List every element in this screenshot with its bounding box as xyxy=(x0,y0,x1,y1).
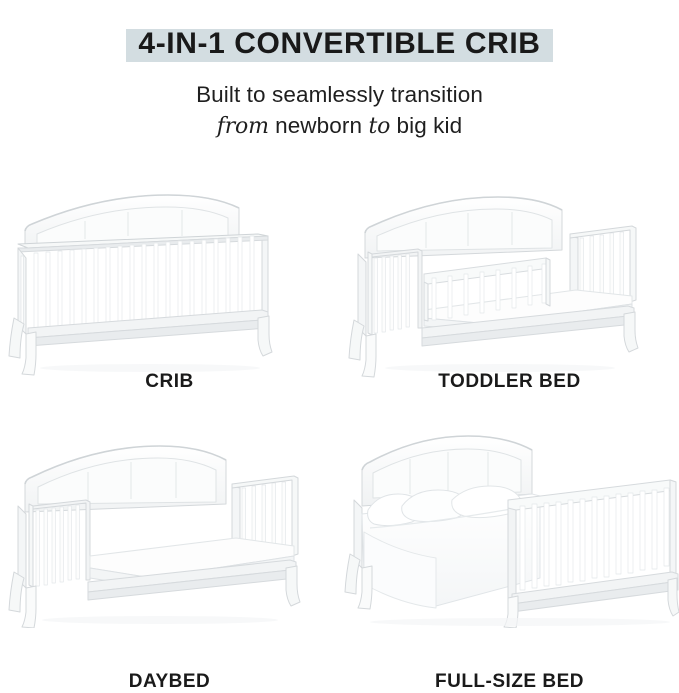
subtitle-script-from: from xyxy=(217,114,269,139)
header: 4-IN-1 CONVERTIBLE CRIB Built to seamles… xyxy=(0,0,679,141)
configuration-cell-full-size-bed: FULL-SIZE BED xyxy=(340,428,679,678)
crib-illustration xyxy=(0,178,339,378)
configuration-label-full-size-bed: FULL-SIZE BED xyxy=(340,671,679,693)
subtitle-script-to: to xyxy=(368,114,390,139)
page-title-wrap: 4-IN-1 CONVERTIBLE CRIB xyxy=(0,26,679,64)
page-title: 4-IN-1 CONVERTIBLE CRIB xyxy=(126,26,552,64)
daybed-illustration xyxy=(0,428,339,628)
toddler-bed-illustration xyxy=(340,178,679,378)
configuration-cell-toddler-bed: TODDLER BED xyxy=(340,178,679,428)
subtitle: Built to seamlessly transition from newb… xyxy=(0,80,679,141)
configuration-cell-daybed: DAYBED xyxy=(0,428,339,678)
configuration-label-toddler-bed: TODDLER BED xyxy=(340,371,679,393)
configuration-grid: CRIB xyxy=(0,178,679,678)
configuration-label-daybed: DAYBED xyxy=(0,671,339,693)
configuration-cell-crib: CRIB xyxy=(0,178,339,428)
subtitle-end: big kid xyxy=(390,113,462,138)
subtitle-line-1: Built to seamlessly transition xyxy=(196,82,483,107)
subtitle-mid: newborn xyxy=(269,113,369,138)
page-title-text: 4-IN-1 CONVERTIBLE CRIB xyxy=(138,27,540,60)
configuration-label-crib: CRIB xyxy=(0,371,339,393)
subtitle-line-2: from newborn to big kid xyxy=(0,111,679,141)
full-size-bed-illustration xyxy=(340,428,679,628)
